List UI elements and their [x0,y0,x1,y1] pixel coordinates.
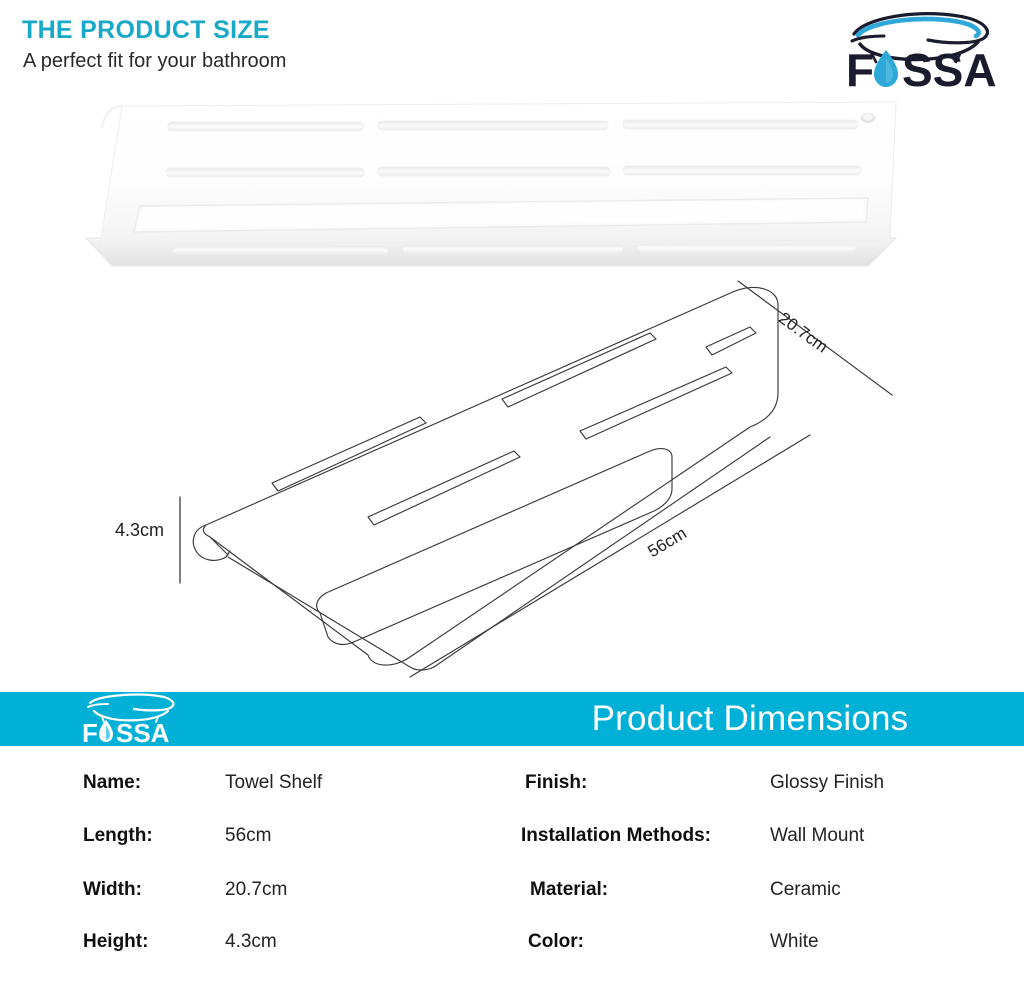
spec-value-material: Ceramic [770,876,841,904]
spec-label-length: Length: [83,822,153,850]
banner-brand-wordmark: F SSA [82,718,170,746]
drawing-lip-edge [210,537,228,555]
spec-row-length: Length: 56cm [0,822,512,850]
spec-label-installation: Installation Methods: [521,822,711,850]
svg-text:SSA: SSA [116,718,170,746]
spec-value-length: 56cm [225,822,271,850]
spec-value-height: 4.3cm [225,928,277,956]
spec-label-width: Width: [83,876,142,904]
drawing-slot-2 [368,451,520,525]
spec-label-finish: Finish: [525,769,587,797]
drawing-slot-3 [502,333,656,407]
spec-row-finish: Finish: Glossy Finish [512,769,1024,797]
svg-text:F: F [82,718,98,746]
svg-text:F: F [846,44,874,92]
banner-brand-logo: F SSA [76,692,196,746]
drawing-slot-5 [706,327,756,355]
product-dimensions-banner: F SSA Product Dimensions [0,692,1024,746]
spec-row-installation: Installation Methods: Wall Mount [512,822,1024,850]
spec-row-width: Width: 20.7cm [0,876,512,904]
water-droplet-icon [99,720,113,742]
product-photo [78,88,958,288]
spec-label-name: Name: [83,769,141,797]
spec-value-width: 20.7cm [225,876,287,904]
shelf-grooves-row-1 [168,120,858,131]
mounting-hole [861,113,875,123]
brand-logo: F SSA [836,4,1016,92]
spec-label-material: Material: [530,876,608,904]
dim-label-height: 4.3cm [115,520,164,541]
technical-drawing: 20.7cm 56cm [110,275,910,685]
shelf-grooves-row-2 [166,166,861,177]
spec-row-color: Color: White [512,928,1024,956]
brand-wordmark: F SSA [846,44,997,92]
drawing-large-opening [317,449,672,645]
spec-row-name: Name: Towel Shelf [0,769,512,797]
drawing-top-face [203,287,778,665]
dim-label-width: 20.7cm [775,308,831,356]
spec-value-color: White [770,928,819,956]
product-size-infographic: THE PRODUCT SIZE A perfect fit for your … [0,0,1024,986]
banner-title: Product Dimensions [540,699,960,739]
spec-value-finish: Glossy Finish [770,769,884,797]
spec-column-right: Finish: Glossy Finish Installation Metho… [512,756,1024,981]
drawing-slot-4 [580,367,732,439]
drawing-front-thickness [228,437,770,670]
spec-label-height: Height: [83,928,148,956]
spec-row-height: Height: 4.3cm [0,928,512,956]
spec-value-installation: Wall Mount [770,822,864,850]
spec-column-left: Name: Towel Shelf Length: 56cm Width: 20… [0,756,512,981]
spec-row-material: Material: Ceramic [512,876,1024,904]
spec-value-name: Towel Shelf [225,769,322,797]
drawing-left-lip [193,525,230,560]
page-subtitle: A perfect fit for your bathroom [23,50,286,73]
page-title: THE PRODUCT SIZE [22,16,270,45]
spec-label-color: Color: [528,928,584,956]
svg-text:SSA: SSA [902,44,997,92]
dim-label-length: 56cm [644,523,689,561]
drawing-slot-1 [272,417,426,491]
product-specifications-table: Name: Towel Shelf Length: 56cm Width: 20… [0,756,1024,981]
